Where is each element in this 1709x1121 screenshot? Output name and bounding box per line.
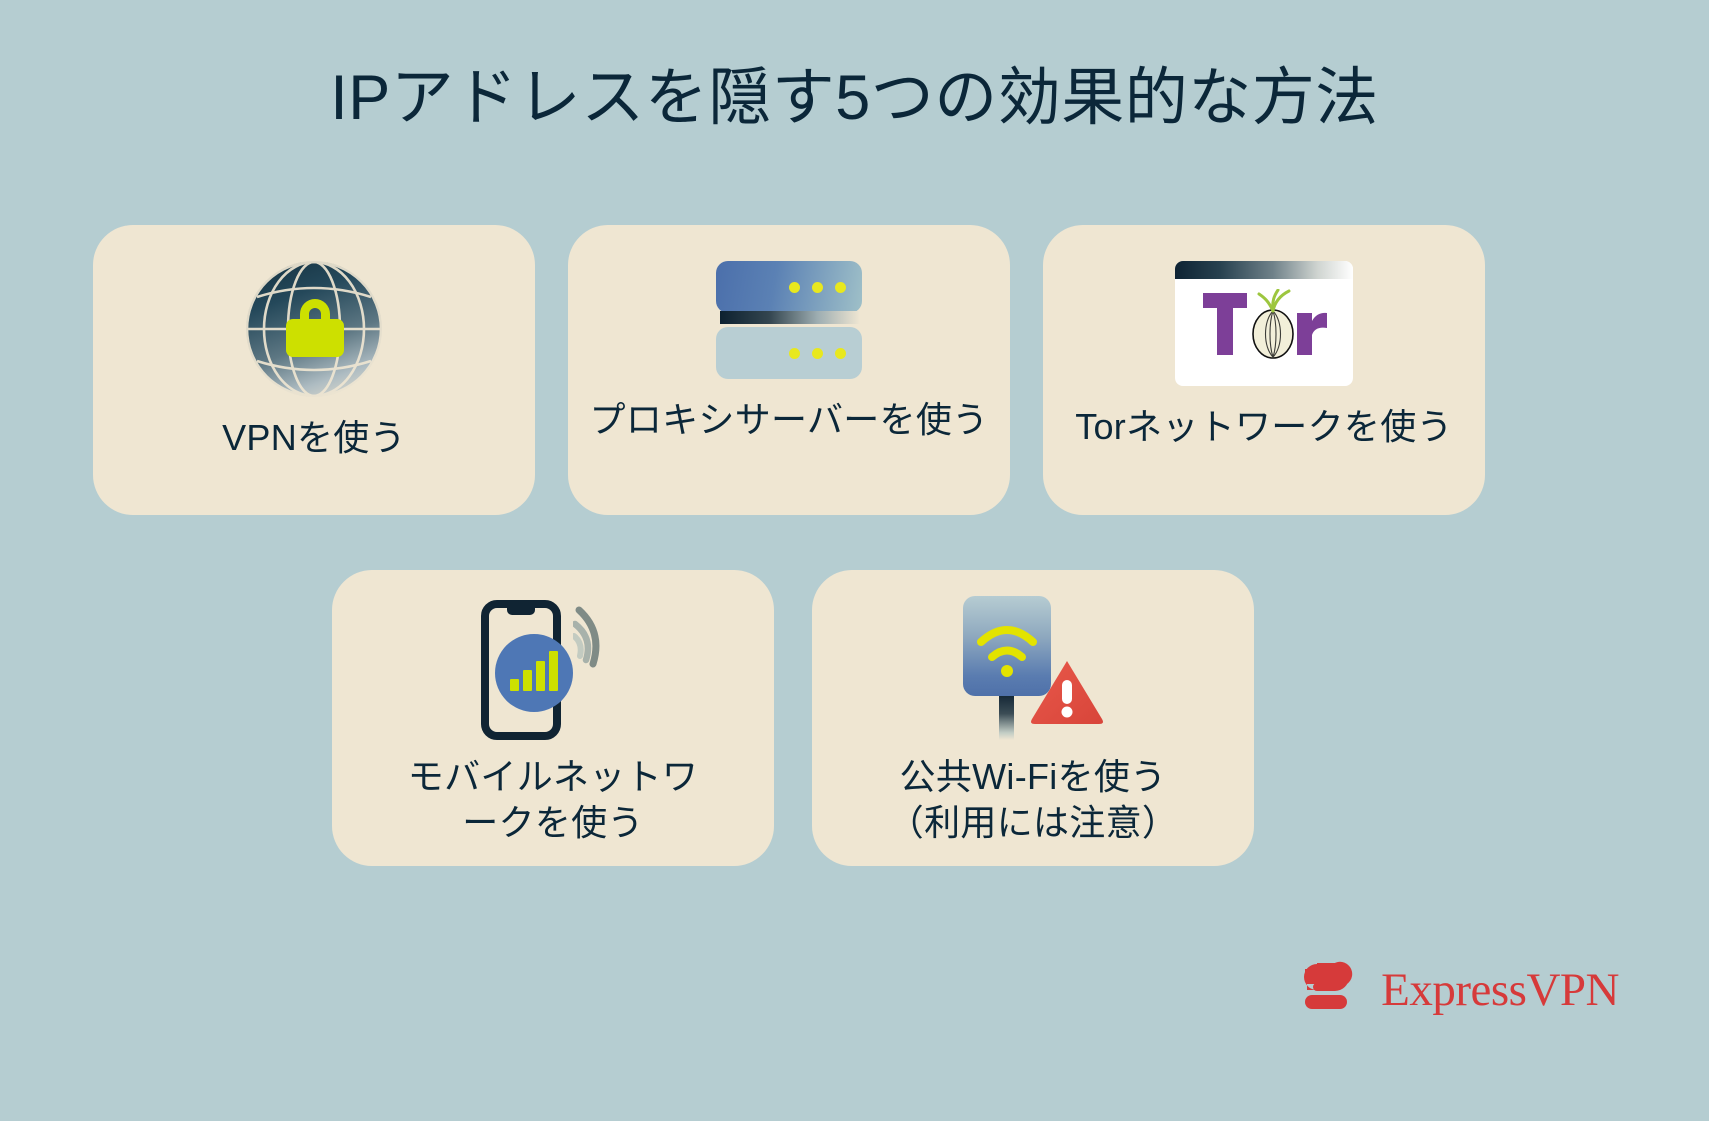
signal-bar	[510, 679, 519, 691]
card-proxy[interactable]: プロキシサーバーを使う	[568, 225, 1010, 515]
card-label-wifi-line2: （利用には注意）	[888, 800, 1178, 846]
signal-bar	[536, 661, 545, 691]
tor-browser-icon	[1175, 261, 1353, 386]
signal-strength-icon	[495, 634, 573, 712]
phone-notch	[507, 607, 535, 615]
signal-bar	[549, 651, 558, 691]
infographic-canvas: IPアドレスを隠す5つの効果的な方法 VPNを使う	[0, 0, 1709, 1121]
card-label-vpn: VPNを使う	[222, 415, 406, 461]
tor-onion-logo-icon	[1201, 289, 1327, 361]
mobile-signal-icon	[473, 596, 633, 740]
card-label-mobile-line1: モバイルネットワ	[408, 754, 698, 800]
server-unit-bottom	[716, 327, 862, 379]
browser-titlebar	[1175, 261, 1353, 279]
public-wifi-warning-icon	[955, 596, 1111, 740]
card-tor[interactable]: Torネットワークを使う	[1043, 225, 1485, 515]
server-led-icon	[835, 348, 846, 359]
server-stack-icon	[716, 261, 862, 379]
card-vpn[interactable]: VPNを使う	[93, 225, 535, 515]
server-shadow	[720, 311, 860, 324]
server-led-icon	[812, 348, 823, 359]
server-led-icon	[812, 282, 823, 293]
lock-icon	[286, 299, 344, 357]
server-unit-top	[716, 261, 862, 313]
sign-post	[999, 692, 1014, 740]
card-mobile[interactable]: モバイルネットワ ークを使う	[332, 570, 774, 866]
card-label-proxy: プロキシサーバーを使う	[590, 397, 989, 443]
card-label-mobile-line2: ークを使う	[408, 800, 698, 846]
card-label-mobile: モバイルネットワ ークを使う	[408, 754, 698, 846]
radio-waves-icon	[573, 602, 629, 674]
card-wifi[interactable]: 公共Wi-Fiを使う （利用には注意）	[812, 570, 1254, 866]
card-label-tor: Torネットワークを使う	[1075, 404, 1453, 450]
expressvpn-wordmark: ExpressVPN	[1381, 967, 1619, 1014]
globe-lock-icon	[246, 261, 382, 397]
signal-bar	[523, 670, 532, 691]
expressvpn-mark-icon	[1303, 959, 1365, 1021]
server-led-icon	[789, 348, 800, 359]
server-led-icon	[835, 282, 846, 293]
server-led-icon	[789, 282, 800, 293]
expressvpn-logo[interactable]: ExpressVPN	[1303, 959, 1619, 1021]
card-label-wifi: 公共Wi-Fiを使う （利用には注意）	[888, 754, 1178, 846]
lock-body	[286, 319, 344, 357]
warning-triangle-icon	[1029, 658, 1105, 726]
card-label-wifi-line1: 公共Wi-Fiを使う	[888, 754, 1178, 800]
page-title: IPアドレスを隠す5つの効果的な方法	[0, 62, 1709, 134]
